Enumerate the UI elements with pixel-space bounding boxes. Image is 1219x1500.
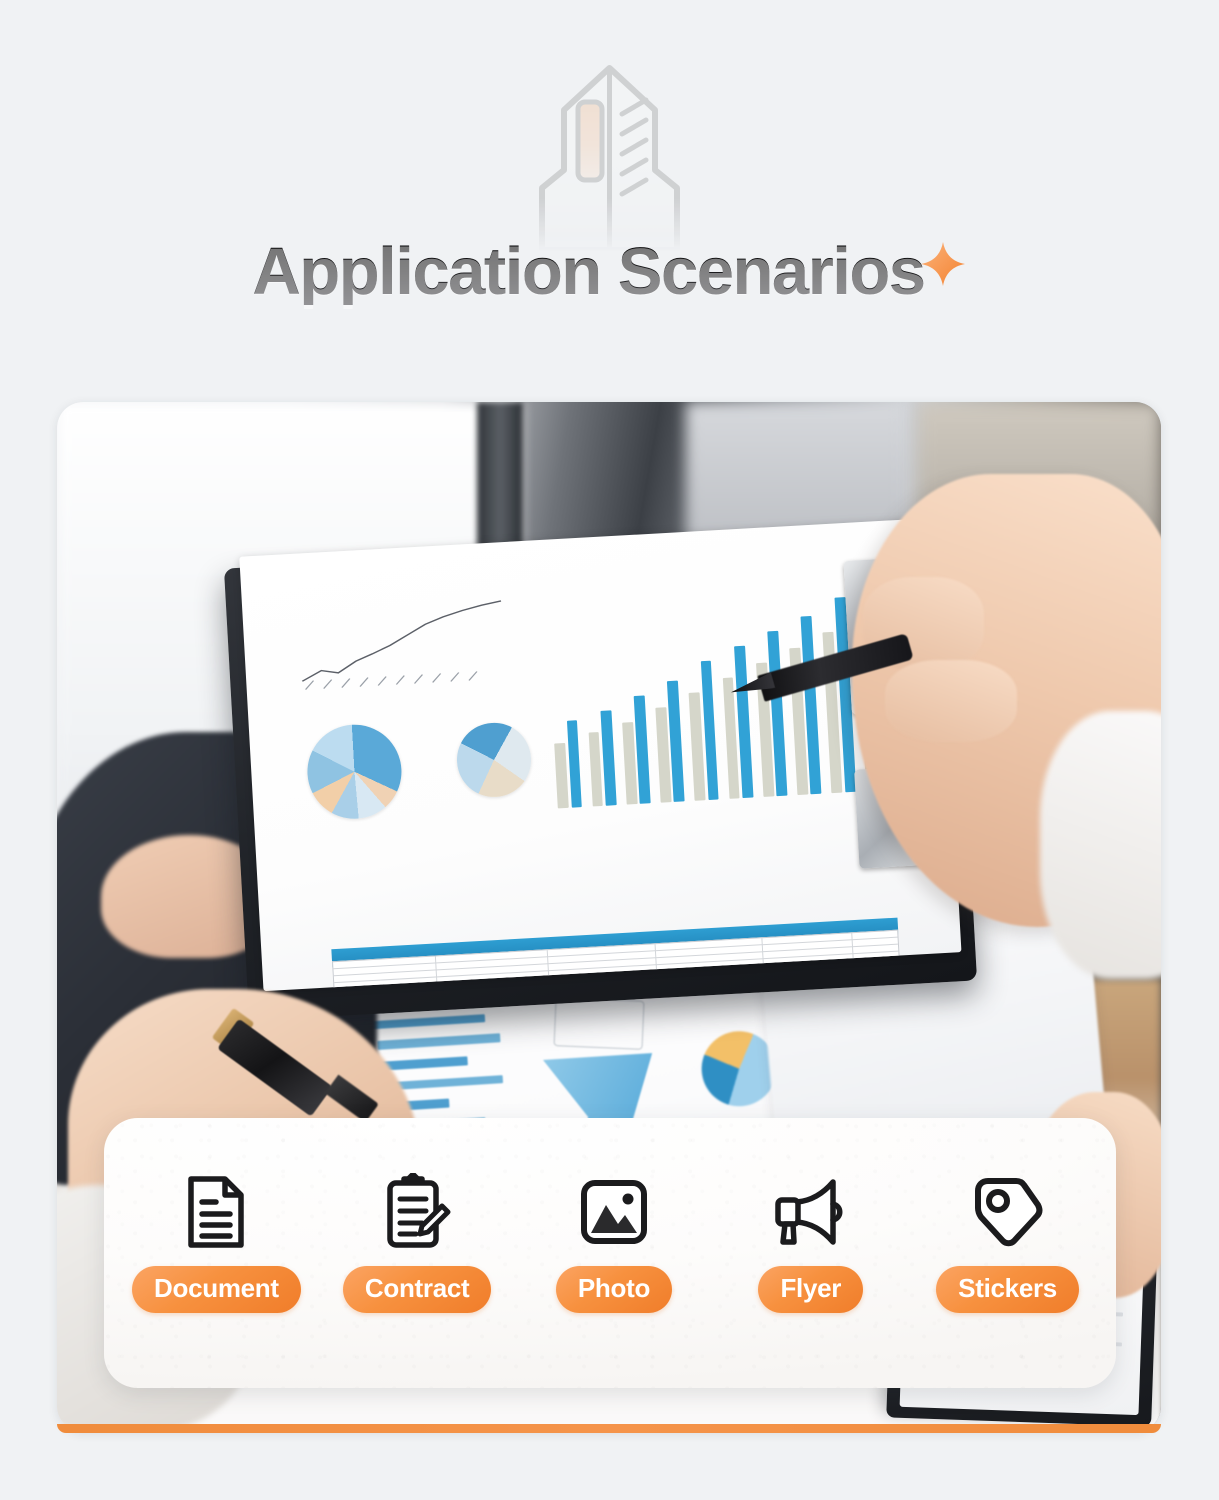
pie-chart-left <box>305 722 405 822</box>
page-root: Application Scenarios <box>0 0 1219 1500</box>
page-title: Application Scenarios <box>252 238 924 305</box>
feature-badge-contract[interactable]: Contract <box>343 1266 492 1313</box>
feature-badge-flyer[interactable]: Flyer <box>758 1266 863 1313</box>
clipboard-pencil-icon <box>382 1170 452 1254</box>
feature-item-contract[interactable]: Contract <box>337 1170 498 1313</box>
photo-bottom-accent-rule <box>57 1424 1161 1433</box>
title-row: Application Scenarios <box>0 238 1219 305</box>
feature-badge-photo[interactable]: Photo <box>556 1266 672 1313</box>
feature-badge-stickers[interactable]: Stickers <box>936 1266 1079 1313</box>
person-right-cuff <box>1040 711 1161 979</box>
document-page-icon <box>183 1170 249 1254</box>
line-chart <box>291 589 520 697</box>
skyscraper-building-icon <box>502 62 717 252</box>
megaphone-icon <box>771 1170 851 1254</box>
finger-middle <box>885 660 1017 742</box>
sparkle-star-icon <box>919 240 967 288</box>
image-picture-icon <box>576 1170 652 1254</box>
pie-chart-right <box>455 721 532 798</box>
feature-item-flyer[interactable]: Flyer <box>730 1170 891 1313</box>
brand-logo <box>0 62 1219 252</box>
feature-list: Document <box>104 1170 1116 1313</box>
feature-badge-document[interactable]: Document <box>132 1266 301 1313</box>
feature-item-stickers[interactable]: Stickers <box>927 1170 1088 1313</box>
feature-item-photo[interactable]: Photo <box>534 1170 695 1313</box>
feature-item-document[interactable]: Document <box>132 1170 301 1313</box>
price-tag-icon <box>970 1170 1046 1254</box>
header-section: Application Scenarios <box>0 0 1219 380</box>
feature-card: Document <box>104 1118 1116 1388</box>
